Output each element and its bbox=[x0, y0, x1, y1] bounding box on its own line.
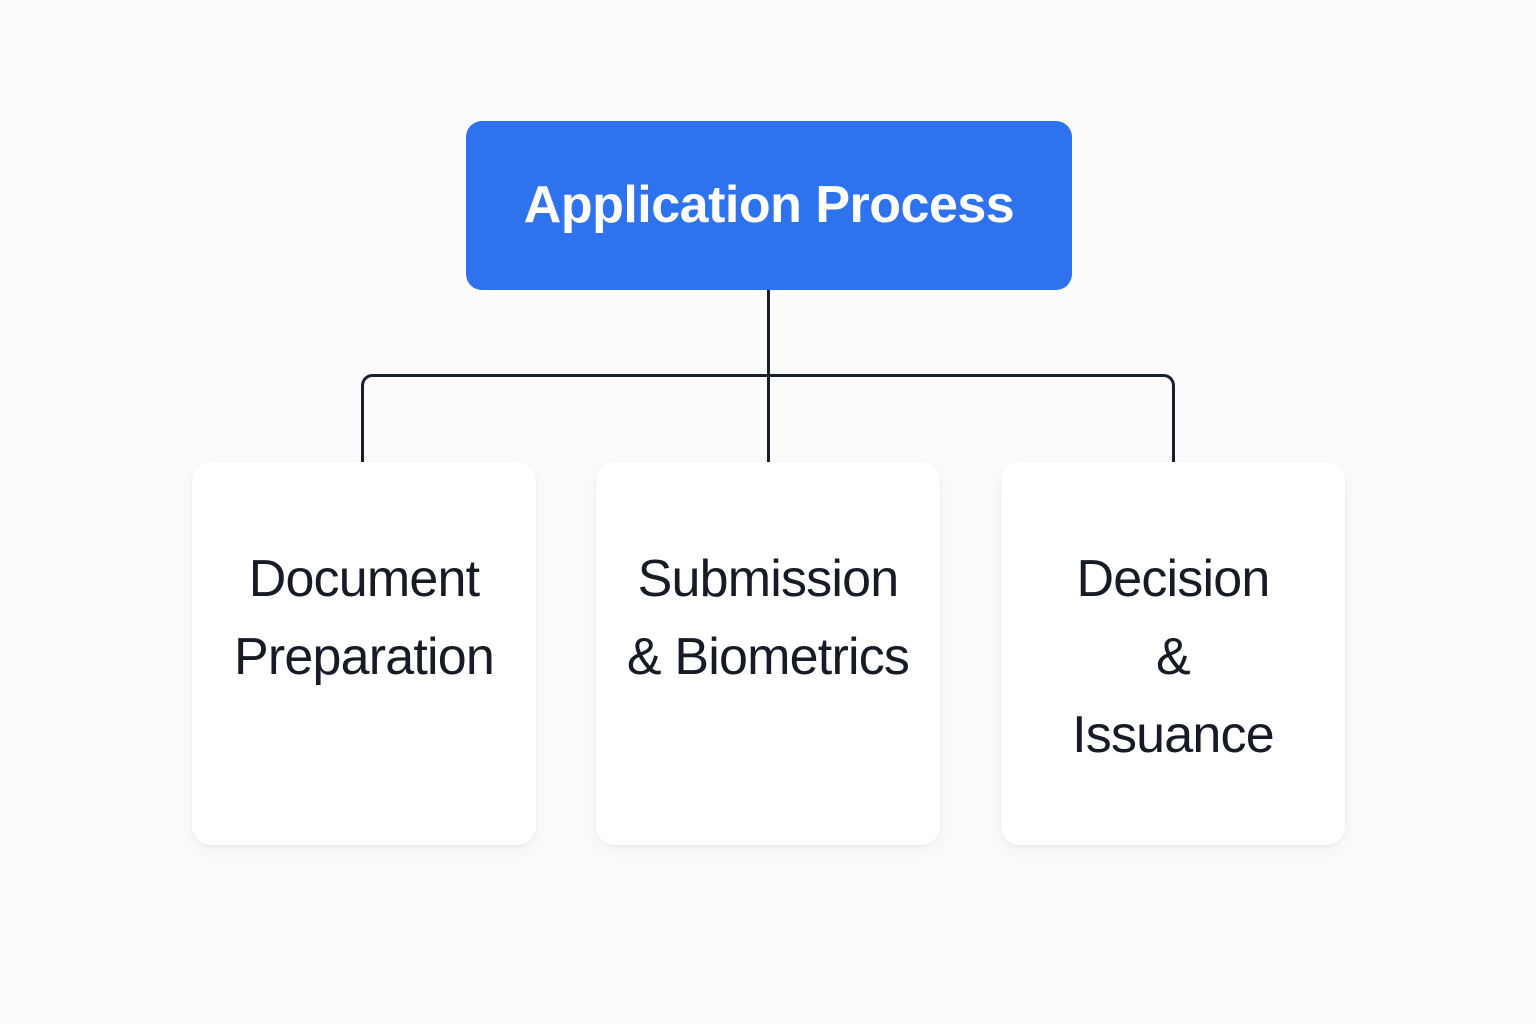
node-child-submission-biometrics[interactable]: Submission & Biometrics bbox=[596, 462, 940, 845]
node-child-document-preparation[interactable]: Document Preparation bbox=[192, 462, 536, 845]
connector-child-0 bbox=[363, 376, 373, 463]
node-child-0-line-0: Document bbox=[200, 540, 528, 618]
node-child-2-line-2: Issuance bbox=[1009, 696, 1337, 774]
node-root-label: Application Process bbox=[524, 176, 1014, 236]
node-child-0-line-1: Preparation bbox=[200, 618, 528, 696]
node-child-decision-issuance[interactable]: Decision & Issuance bbox=[1001, 462, 1345, 845]
node-child-0-label: Document Preparation bbox=[192, 540, 536, 696]
node-child-2-label: Decision & Issuance bbox=[1001, 540, 1345, 774]
node-child-2-line-1: & bbox=[1009, 618, 1337, 696]
node-root[interactable]: Application Process bbox=[466, 121, 1072, 290]
node-child-1-line-1: & Biometrics bbox=[604, 618, 932, 696]
diagram-canvas: Application Process Document Preparation… bbox=[0, 0, 1536, 1024]
connector-child-2 bbox=[1164, 376, 1174, 463]
node-child-1-line-0: Submission bbox=[604, 540, 932, 618]
node-child-1-label: Submission & Biometrics bbox=[596, 540, 940, 696]
node-child-2-line-0: Decision bbox=[1009, 540, 1337, 618]
